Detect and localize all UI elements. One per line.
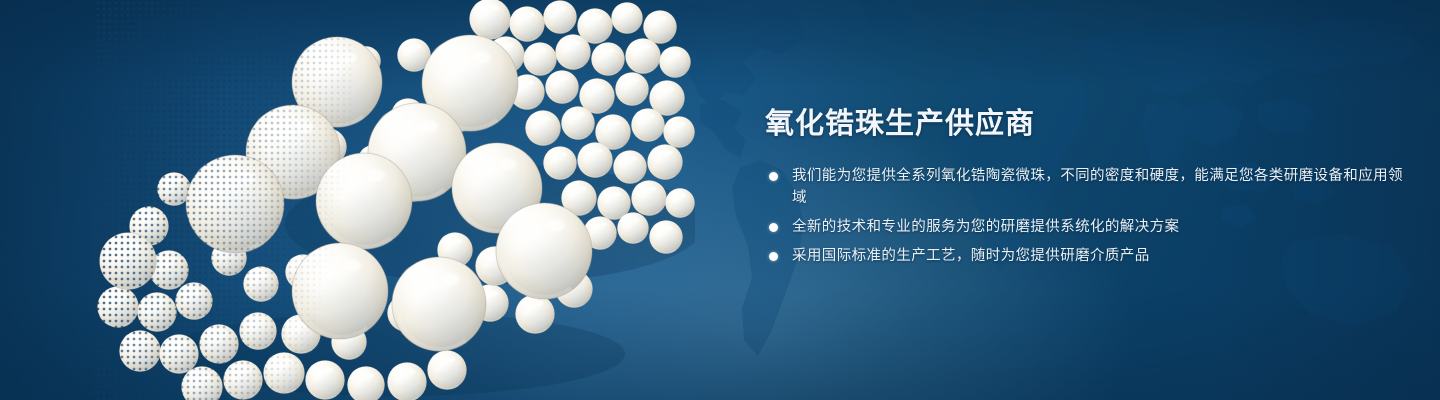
list-item: 全新的技术和专业的服务为您的研磨提供系统化的解决方案	[765, 216, 1405, 238]
hero-banner: 氧化锆珠生产供应商 我们能为您提供全系列氧化锆陶瓷微珠，不同的密度和硬度，能满足…	[0, 0, 1440, 400]
feature-list: 我们能为您提供全系列氧化锆陶瓷微珠，不同的密度和硬度，能满足您各类研磨设备和应用…	[765, 165, 1405, 267]
list-item: 采用国际标准的生产工艺，随时为您提供研磨介质产品	[765, 245, 1405, 267]
list-item-label: 采用国际标准的生产工艺，随时为您提供研磨介质产品	[792, 248, 1150, 264]
bullet-dot-icon	[769, 172, 778, 181]
zirconia-beads-image	[95, 0, 695, 400]
list-item-label: 我们能为您提供全系列氧化锆陶瓷微珠，不同的密度和硬度，能满足您各类研磨设备和应用…	[792, 168, 1403, 206]
page-title: 氧化锆珠生产供应商	[765, 104, 1405, 144]
list-item-label: 全新的技术和专业的服务为您的研磨提供系统化的解决方案	[792, 219, 1179, 235]
bullet-dot-icon	[769, 223, 778, 232]
banner-copy: 氧化锆珠生产供应商 我们能为您提供全系列氧化锆陶瓷微珠，不同的密度和硬度，能满足…	[765, 104, 1405, 267]
list-item: 我们能为您提供全系列氧化锆陶瓷微珠，不同的密度和硬度，能满足您各类研磨设备和应用…	[765, 165, 1405, 209]
bullet-dot-icon	[769, 252, 778, 261]
